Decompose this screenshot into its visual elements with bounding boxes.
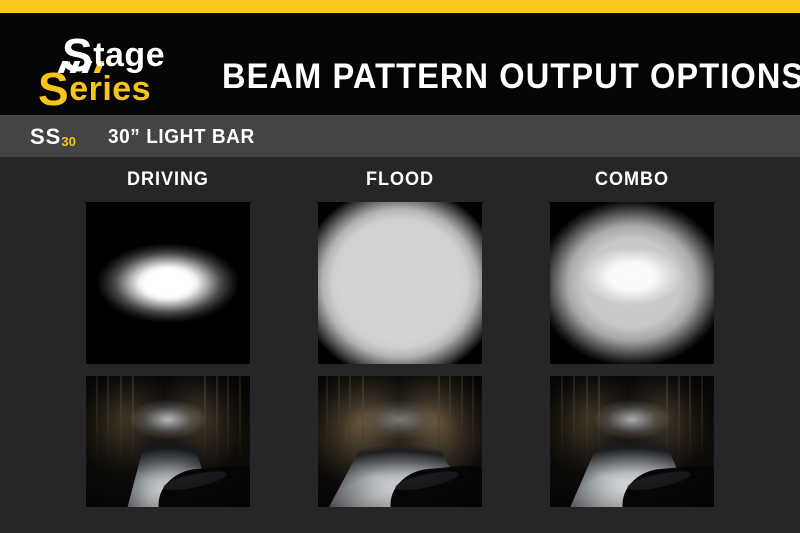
column-title-flood: FLOOD [322,170,478,189]
column-flood: FLOOD [318,157,550,507]
photo-vignette [86,376,250,507]
column-driving: DRIVING [86,157,318,507]
driving-beam-pattern [86,202,250,364]
flood-beam-pattern [318,202,482,364]
logo-text-series: Series [38,66,151,112]
page-title: BEAM PATTERN OUTPUT OPTIONS [222,59,800,94]
product-subheader-band: SS30 30” LIGHT BAR [0,115,800,157]
column-title-combo: COMBO [554,170,710,189]
combo-road-photo [550,376,714,507]
column-combo: COMBO [550,157,782,507]
ss-badge-subscript: 30 [61,134,75,149]
product-name-label: 30” LIGHT BAR [108,127,255,147]
beam-pattern-comparison-grid: DRIVING FLOOD [0,157,800,533]
column-title-driving: DRIVING [90,170,246,189]
top-accent-bar [0,0,800,13]
logo-series-rest: eries [69,70,151,108]
combo-beam-pattern [550,202,714,364]
ss30-model-badge: SS30 [30,126,76,148]
logo-series-capital: S [38,63,69,115]
stage-series-logo: Stage Series [36,30,186,102]
header-band: Stage Series BEAM PATTERN OUTPUT OPTIONS [0,13,800,115]
driving-road-photo [86,376,250,507]
photo-vignette [318,376,482,507]
photo-vignette [550,376,714,507]
flood-road-photo [318,376,482,507]
ss-badge-text: SS [30,124,61,149]
